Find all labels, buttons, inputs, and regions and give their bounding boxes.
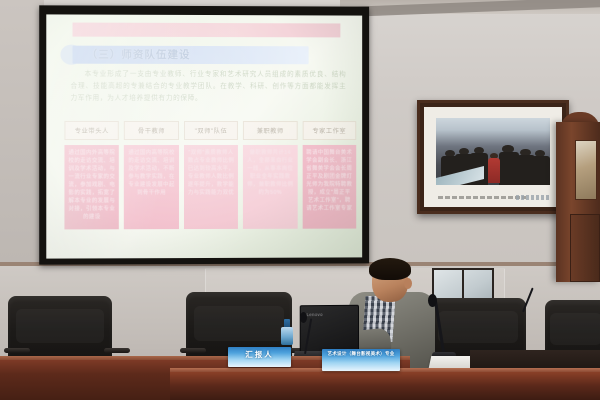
slide-body-paragraph: 本专业形成了一支由专业教师、行业专家和艺术研究人员组成的素质优良、结构合理、技能…: [70, 69, 346, 105]
photo-mat: [424, 107, 562, 207]
photo-people-group: [436, 137, 550, 185]
column-header-1: 骨干教师: [124, 121, 179, 140]
slide-top-banner: [73, 23, 341, 38]
column-body-2: "双师"素质教师人数占专业教师比例已达到较高水平，专业教师人数比例逐年提升，教学…: [184, 145, 238, 229]
photo-image: [436, 118, 550, 185]
photo-person-red-coat: [488, 158, 499, 183]
projection-screen: （三）师资队伍建设 本专业形成了一支由专业教师、行业专家和艺术研究人员组成的素质…: [39, 5, 369, 264]
nameplate-major-text: 艺术设计（舞台影视美术）专业: [327, 351, 394, 357]
clock-lower-case: [570, 214, 600, 282]
slide-column-bodies: 通过国内外高等院校的走访交流、培训及学术活动，与一流行业专家的交流，参加戏剧、电…: [64, 145, 356, 229]
chair-center-arm: [180, 348, 206, 353]
slide-column-headers: 专业带头人 骨干教师 "双师"队伍 兼职教师 专家工作室: [64, 121, 356, 140]
column-body-1: 通过国内高等院校的走访交流、培训及学术活动，不断参与教学实践，在专业建设发展中起…: [124, 145, 179, 229]
chair-left-arm-right: [104, 348, 130, 353]
chair-left-arm: [4, 348, 30, 353]
nameplate-presenter-text: 汇报人: [245, 349, 274, 360]
microphone-head-center: [300, 312, 307, 323]
column-header-4: 专家工作室: [302, 121, 356, 140]
front-desk: [170, 372, 600, 400]
column-header-0: 专业带头人: [64, 121, 119, 140]
clock-face-glass: [575, 140, 597, 200]
water-bottle: [281, 319, 293, 345]
column-header-2: "双师"队伍: [184, 121, 238, 140]
nameplate-major: 艺术设计（舞台影视美术）专业: [322, 349, 400, 371]
column-body-0: 通过国内外高等院校的走访交流、培训及学术活动，与一流行业专家的交流，参加戏剧、电…: [64, 145, 119, 229]
presentation-slide: （三）师资队伍建设 本专业形成了一支由专业教师、行业专家和艺术研究人员组成的素质…: [46, 14, 362, 258]
slide-title-bar: （三）师资队伍建设: [60, 45, 310, 66]
speaker-hair: [369, 258, 411, 280]
slide-title: （三）师资队伍建设: [87, 47, 307, 63]
screen-surface: （三）师资队伍建设 本专业形成了一支由专业教师、行业专家和艺术研究人员组成的素质…: [46, 14, 362, 258]
bottle-body: [281, 327, 293, 345]
column-body-3: 兼职教师共计14人，全部来自行业一线，从事本岗位职业全年实践教师，兼职教师比例约…: [243, 145, 297, 229]
conference-room-scene: （三）师资队伍建设 本专业形成了一支由专业教师、行业专家和艺术研究人员组成的素质…: [0, 0, 600, 400]
nameplate-presenter: 汇报人: [228, 347, 291, 367]
left-wall-panel: [0, 0, 44, 262]
microphone-head-right: [428, 294, 437, 307]
column-header-3: 兼职教师: [243, 121, 297, 140]
speaker-ear: [404, 278, 412, 289]
laptop-brand-label: Lenovo: [306, 312, 322, 317]
column-body-4: 聘请中国舞台美术学会副会长、浙江省舞美学会会长周正平及剧团金牌灯光师为我院特聘教…: [302, 145, 356, 229]
photo-logo-mark: [516, 195, 549, 200]
framed-photo: [417, 100, 569, 214]
photo-caption-text: [438, 196, 526, 199]
